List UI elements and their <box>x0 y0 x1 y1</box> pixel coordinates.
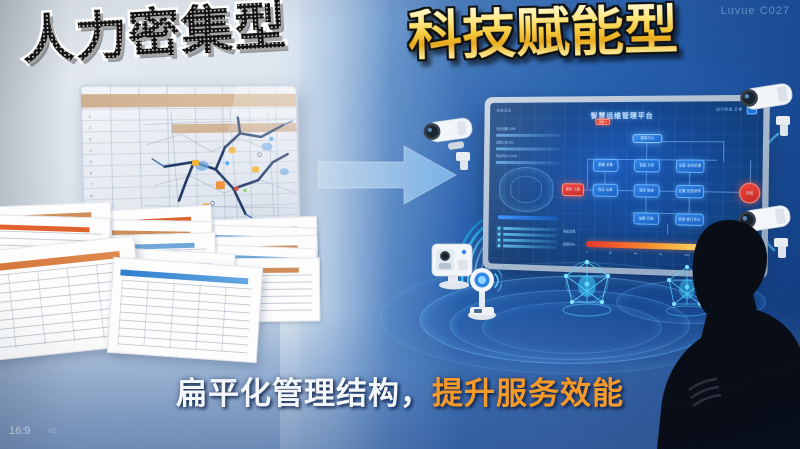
flow-connector <box>646 141 647 159</box>
left-panel-metric: 响应时长 5.2min <box>496 153 560 158</box>
radar-chart <box>499 167 554 213</box>
panel-divider-bar <box>498 215 558 220</box>
manager-silhouette <box>633 214 800 449</box>
left-panel-metric: 处理工单 342 <box>496 139 560 144</box>
left-panel-metric: 在线设备 1286 <box>496 126 560 131</box>
flow-node[interactable]: 远程 协同处置 <box>676 159 705 172</box>
bullet-camera-top-left <box>420 112 492 174</box>
flow-node[interactable]: 数据 采集 <box>593 159 618 172</box>
status-bar <box>503 227 557 231</box>
legend-tick: 2h <box>609 251 612 255</box>
status-dot-icon <box>498 233 501 236</box>
row-label: 1 <box>85 110 149 122</box>
flow-node-alert[interactable]: 事件 上报 <box>562 183 584 196</box>
status-dot-icon <box>498 238 501 241</box>
flow-node[interactable]: 智能 分析 <box>634 159 660 172</box>
status-list <box>497 227 557 252</box>
process-flow-diagram: 指挥中心 数据 采集 智能 分析 远程 协同处置 事件 上报 自动 派单 现场 … <box>560 128 757 225</box>
dashboard-left-panel: 在线设备 1286 处理工单 342 响应时长 5.2min <box>495 126 560 256</box>
headline-right: 科技赋能型 <box>407 3 678 64</box>
cube-camera-bottom-left <box>424 232 482 290</box>
metric-bar <box>496 134 560 137</box>
alert-badge[interactable]: 预警 3 <box>595 119 609 125</box>
status-bar <box>503 233 557 237</box>
metric-bar <box>496 161 560 165</box>
subtitle-banner: 扁平化管理结构，提升服务效能 <box>0 368 800 413</box>
subtitle-orange-part: 提升服务效能 <box>432 376 624 412</box>
subtitle-white-part: 扁平化管理结构， <box>176 376 432 412</box>
flow-node[interactable]: 处置 反馈闭环 <box>676 185 705 199</box>
row-label: 2 <box>86 121 150 133</box>
flow-node-head[interactable]: 指挥中心 <box>632 134 662 143</box>
network-node-sphere-left <box>556 256 618 318</box>
legend-label-bottom: 处置时长 <box>563 241 575 246</box>
paper-sheet-foreground <box>107 257 263 363</box>
dashboard-title: 智慧运维管理平台 <box>490 110 763 121</box>
legend-tick: 0 <box>586 250 588 254</box>
flow-node[interactable]: 现场 核查 <box>634 184 660 197</box>
status-row <box>498 233 558 238</box>
status-bar <box>503 239 557 243</box>
legend-label-top: 响应效率 <box>563 229 575 234</box>
status-bar <box>503 245 557 249</box>
status-dot-icon <box>498 227 501 230</box>
paper-document-stacks <box>0 200 320 360</box>
poster-canvas: 1 2 3 4 5 6 7 8 9 10 11 <box>0 0 800 449</box>
status-row <box>498 244 558 249</box>
flow-node[interactable]: 自动 派单 <box>593 184 618 197</box>
watermark: Luvue C027 <box>721 5 790 17</box>
aspect-ratio-label: 16:9 <box>9 425 30 437</box>
flow-connector <box>723 141 724 162</box>
headline-left: 人力密集型 <box>21 1 289 68</box>
flow-connector <box>587 159 588 189</box>
status-row <box>498 238 558 243</box>
aspect-ratio-note: HD <box>48 429 57 435</box>
bullet-camera-top-right <box>736 78 800 140</box>
metric-bar <box>496 147 560 150</box>
status-dot-icon <box>498 244 501 247</box>
status-row <box>498 227 558 231</box>
